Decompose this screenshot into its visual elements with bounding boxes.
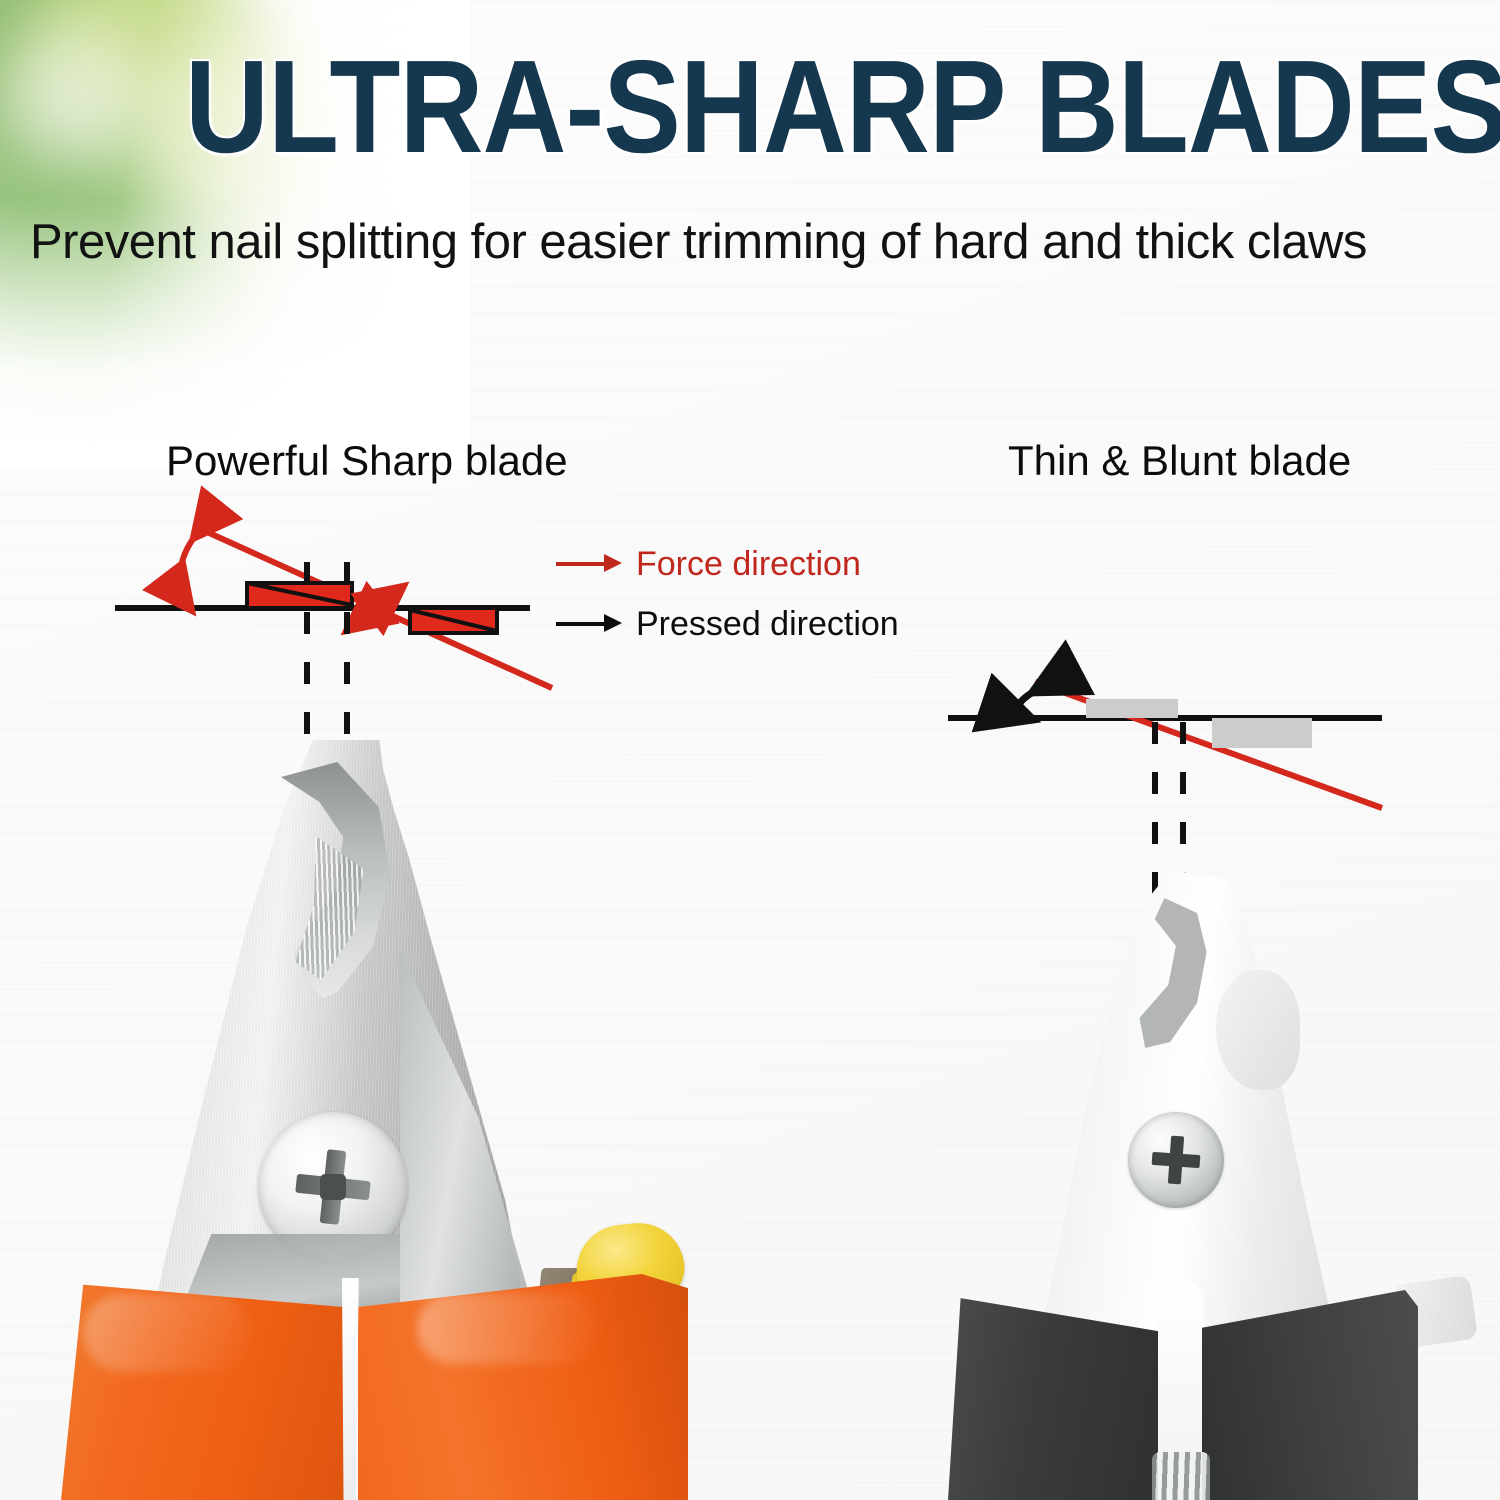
left-handle-left [60, 1280, 350, 1500]
right-spring [1152, 1452, 1210, 1500]
right-pivot-screw [1128, 1112, 1224, 1208]
phillips-screw-icon [1152, 1136, 1200, 1184]
arrow-right-icon [556, 553, 622, 575]
left-panel-caption: Powerful Sharp blade [166, 437, 568, 485]
legend-label-pressed: Pressed direction [636, 607, 899, 641]
right-panel-caption: Thin & Blunt blade [1008, 437, 1351, 485]
left-wedge-upper [247, 583, 352, 608]
right-angle-line [1035, 682, 1382, 808]
left-blade-right-face [400, 950, 535, 1330]
phillips-screw-icon [296, 1150, 370, 1224]
left-wedge-lower [410, 608, 497, 633]
left-wedge-upper-edge [247, 583, 352, 605]
left-angle-arc-arrow [180, 535, 196, 607]
legend-item-force: Force direction [556, 540, 886, 588]
right-blade-lobe [1216, 970, 1300, 1090]
legend: Force direction Pressed direction [556, 540, 886, 660]
page-title: ULTRA-SHARP BLADES [185, 48, 1197, 170]
right-wedge-lower [1212, 718, 1312, 748]
right-product-image [930, 860, 1500, 1500]
legend-item-pressed: Pressed direction [556, 600, 886, 648]
arrow-right-icon [556, 613, 622, 635]
right-handle-gap [1156, 1280, 1204, 1460]
left-angle-line [207, 532, 552, 688]
left-product-image [40, 740, 720, 1500]
left-force-arrow [350, 589, 400, 628]
left-wedge-lower-edge [410, 610, 497, 631]
right-wedge-upper [1086, 699, 1178, 718]
infographic-canvas: ULTRA-SHARP BLADES Prevent nail splittin… [0, 0, 1500, 1500]
legend-label-force: Force direction [636, 547, 861, 581]
page-subtitle: Prevent nail splitting for easier trimmi… [30, 212, 1490, 272]
left-handle-right [358, 1274, 688, 1500]
right-angle-arc-arrow [1018, 690, 1037, 718]
